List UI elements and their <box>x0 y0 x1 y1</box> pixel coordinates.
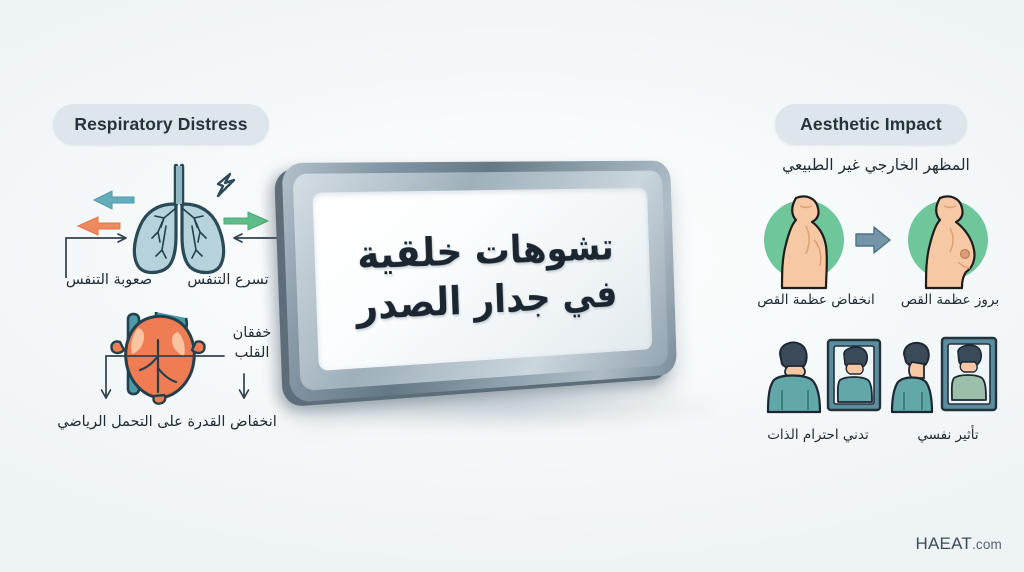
arrow-left-teal <box>94 191 134 209</box>
label-pectus-excavatum-text: انخفاض عظمة القص <box>757 292 874 308</box>
label-psychological-impact: تأثير نفسي <box>890 426 1006 444</box>
label-low-self-esteem: تدني احترام الذات <box>748 426 888 444</box>
infographic-canvas: Respiratory Distress Aesthetic Impact <box>0 0 1024 572</box>
label-low-self-esteem-text: تدني احترام الذات <box>767 427 869 443</box>
lung-lobe-left <box>134 204 176 273</box>
sign-board: تشوهات خلقية في جدار الصدر <box>282 161 677 403</box>
central-sign-group: تشوهات خلقية في جدار الصدر <box>286 163 738 403</box>
label-palpitations-line1: خفقان <box>212 324 292 344</box>
label-palpitations: خفقان القلب <box>212 324 292 363</box>
label-dyspnea-text: صعوبة التنفس <box>66 272 152 288</box>
label-pectus-carinatum-text: بروز عظمة القص <box>901 292 999 308</box>
pill-label-right: Aesthetic Impact <box>800 114 942 135</box>
subheading-abnormal-appearance: المظهر الخارجي غير الطبيعي <box>752 155 1000 176</box>
sign-title-line1: تشوهات خلقية <box>356 224 614 280</box>
trachea-fill <box>176 166 182 204</box>
sign-inner-bevel: تشوهات خلقية في جدار الصدر <box>293 171 669 392</box>
label-reduced-endurance-text: انخفاض القدرة على التحمل الرياضي <box>57 414 277 430</box>
section-heading-respiratory-distress: Respiratory Distress <box>53 104 269 145</box>
person-mirror-back-icon <box>768 340 880 412</box>
label-palpitations-line2: القلب <box>212 344 292 364</box>
arrow-right-green <box>224 212 268 230</box>
lung-lobe-right <box>182 204 224 273</box>
person-mirror-side-icon <box>892 338 996 412</box>
watermark-suffix: .com <box>972 537 1002 552</box>
bolt-icon <box>218 174 234 196</box>
watermark: HAEAT.com <box>916 534 1002 554</box>
label-dyspnea: صعوبة التنفس <box>44 271 174 291</box>
label-tachypnea: تسرع التنفس <box>168 271 288 291</box>
torso-comparison-group <box>752 186 1000 290</box>
label-psychological-impact-text: تأثير نفسي <box>917 427 978 443</box>
arrow-left-orange <box>78 217 120 235</box>
pill-label-left: Respiratory Distress <box>74 114 247 135</box>
arrow-right-icon <box>856 227 890 253</box>
label-pectus-excavatum: انخفاض عظمة القص <box>742 291 890 309</box>
sign-metal-frame: تشوهات خلقية في جدار الصدر <box>282 161 677 403</box>
label-reduced-endurance: انخفاض القدرة على التحمل الرياضي <box>42 413 292 433</box>
watermark-brand: HAEAT <box>916 534 972 553</box>
label-tachypnea-text: تسرع التنفس <box>187 272 268 288</box>
section-heading-aesthetic-impact: Aesthetic Impact <box>775 104 967 145</box>
lungs-illustration-group <box>48 160 310 280</box>
mirror-illustration-group <box>762 336 1000 424</box>
subheading-text: المظهر الخارجي غير الطبيعي <box>782 156 970 174</box>
label-pectus-carinatum: بروز عظمة القص <box>886 291 1014 309</box>
sign-title-line2: في جدار الصدر <box>355 271 617 330</box>
sign-face: تشوهات خلقية في جدار الصدر <box>312 188 652 371</box>
